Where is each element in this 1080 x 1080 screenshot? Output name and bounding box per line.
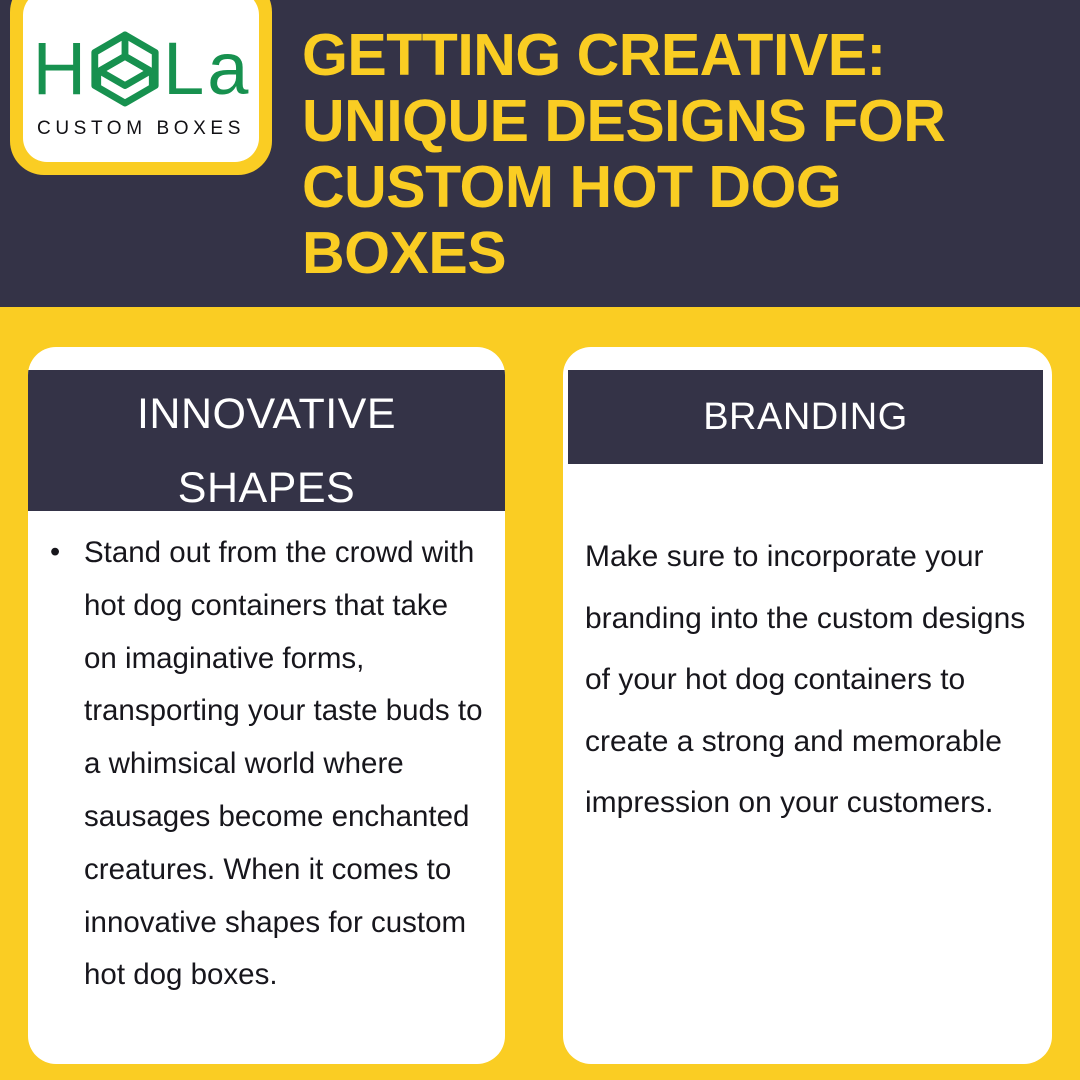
logo-wordmark: H L a	[33, 32, 250, 106]
card-body: • Stand out from the crowd with hot dog …	[28, 511, 505, 1002]
logo-letter-l: L	[163, 32, 205, 106]
logo-letter-a: a	[207, 32, 249, 106]
bullet-text: Stand out from the crowd with hot dog co…	[84, 527, 487, 1002]
content-cards: INNOVATIVE SHAPES • Stand out from the c…	[0, 347, 1080, 1080]
logo-inner: H L a CUSTOM BOXES	[23, 0, 259, 162]
card-heading: INNOVATIVE SHAPES	[28, 370, 505, 511]
bullet-item: • Stand out from the crowd with hot dog …	[50, 527, 487, 1002]
page-title: GETTING CREATIVE: UNIQUE DESIGNS FOR CUS…	[302, 22, 1002, 286]
card-heading: BRANDING	[568, 370, 1043, 464]
cube-icon	[89, 31, 161, 107]
card-branding: BRANDING Make sure to incorporate your b…	[563, 347, 1052, 1064]
logo-subtitle: CUSTOM BOXES	[37, 118, 245, 140]
card-body: Make sure to incorporate your branding i…	[563, 464, 1052, 834]
bullet-dot-icon: •	[50, 527, 84, 1002]
logo-letter-h: H	[33, 32, 87, 106]
logo-card: H L a CUSTOM BOXES	[10, 0, 272, 175]
card-innovative-shapes: INNOVATIVE SHAPES • Stand out from the c…	[28, 347, 505, 1064]
